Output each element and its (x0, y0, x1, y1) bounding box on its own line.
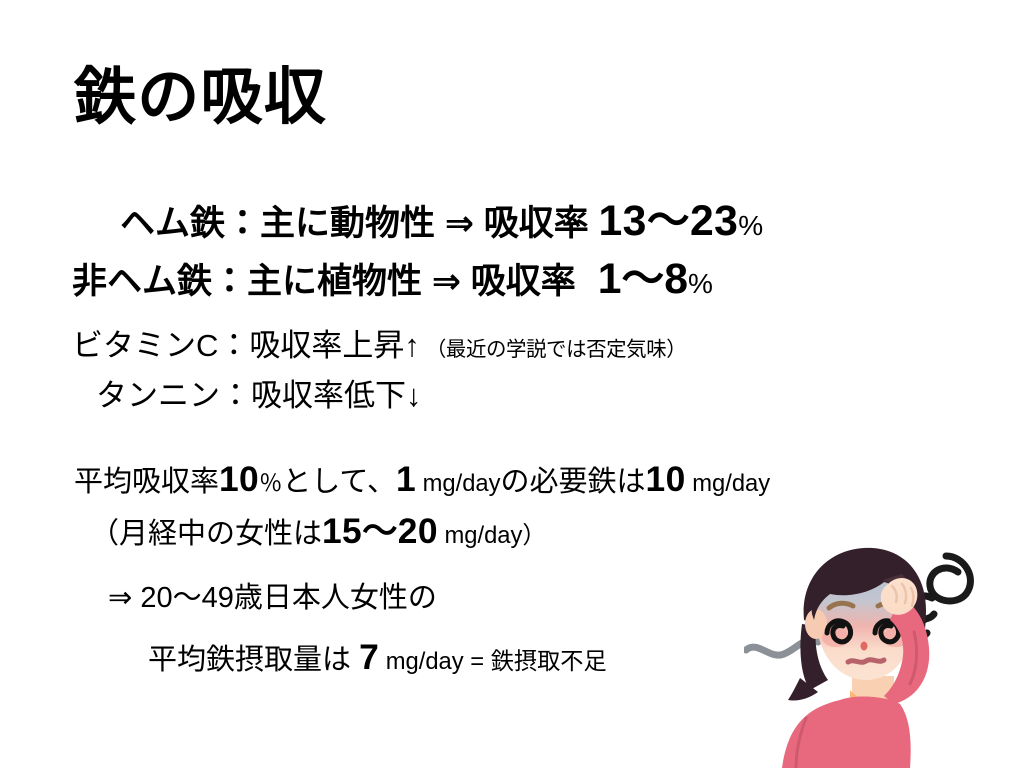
menstruation-line: （月経中の女性は15〜20 mg/day） (90, 514, 546, 549)
japanese-women-label: ⇒ 20〜49歳日本人女性の (108, 582, 437, 614)
hair-side-left (800, 624, 828, 690)
nonheme-iron-unit: % (688, 268, 713, 299)
spiral-eye-left (827, 621, 851, 642)
hand-on-forehead (881, 578, 918, 615)
intake-prefix: 平均鉄摂取量は (148, 644, 359, 676)
finger-line-1 (892, 586, 897, 602)
slide-canvas: 鉄の吸収 ヘム鉄：主に動物性 ⇒ 吸収率 13〜23% 非ヘム鉄：主に植物性 ⇒… (0, 0, 1024, 768)
nonheme-iron-label: 非ヘム鉄：主に植物性 ⇒ 吸収率 (72, 262, 576, 301)
finger-line-3 (911, 588, 913, 606)
dizzy-wave-icon (746, 640, 818, 655)
cheek-left (822, 629, 850, 647)
dizzy-swirl-icon (908, 556, 971, 637)
heme-iron-line: ヘム鉄：主に動物性 ⇒ 吸収率 13〜23% (120, 200, 763, 243)
sleeve-fold (910, 632, 917, 684)
intake-value: 7 (359, 638, 379, 677)
eyebrow-right (878, 603, 902, 608)
heme-iron-label: ヘム鉄：主に動物性 ⇒ 吸収率 (120, 204, 599, 243)
hair-tip-left (788, 678, 818, 701)
intake-conclusion: 鉄摂取不足 (491, 648, 607, 674)
hair-bangs (812, 554, 920, 620)
intake-unit: mg/day (379, 648, 464, 675)
requirement-need-value: 1 (396, 460, 416, 499)
nonheme-iron-value: 1〜8 (576, 255, 688, 303)
menstruation-unit: mg/day） (438, 522, 546, 549)
requirement-total-value: 10 (646, 460, 686, 499)
shirt-body (782, 697, 911, 768)
nonheme-iron-line: 非ヘム鉄：主に植物性 ⇒ 吸収率1〜8% (72, 258, 713, 301)
japanese-women-line-2: 平均鉄摂取量は 7 mg/day = 鉄摂取不足 (148, 640, 607, 675)
shirt-sleeve-right (884, 598, 929, 704)
hair-back (804, 548, 926, 674)
heme-iron-value: 13〜23 (599, 197, 739, 245)
requirement-prefix: 平均吸収率 (74, 466, 219, 498)
finger-line-2 (902, 584, 906, 603)
heme-iron-unit: % (738, 210, 763, 241)
requirement-mid2: の必要鉄は (501, 466, 646, 498)
hair-highlight (882, 574, 915, 614)
page-title: 鉄の吸収 (74, 62, 327, 133)
spiral-eye-right (875, 621, 899, 642)
menstruation-prefix: （月経中の女性は (90, 518, 322, 550)
requirement-need-unit: mg/day (416, 470, 501, 497)
vitamin-c-note: （最近の学説では否定気味） (420, 338, 686, 361)
neck (852, 676, 894, 704)
requirement-rate-unit: ％ (259, 470, 282, 496)
shirt-fold-left (796, 718, 806, 768)
nose (861, 642, 868, 651)
menstruation-value: 15〜20 (322, 512, 438, 551)
cheek-right (882, 629, 910, 647)
tannin-label: タンニン：吸収率低下↓ (96, 378, 422, 413)
requirement-mid: として、 (282, 466, 396, 498)
iron-requirement-line: 平均吸収率10％として、1 mg/dayの必要鉄は10 mg/day (74, 462, 770, 497)
requirement-rate-value: 10 (219, 460, 259, 499)
mouth (848, 660, 884, 663)
face (816, 560, 914, 680)
neck-shadow (850, 690, 896, 706)
tannin-line: タンニン：吸収率低下↓ (96, 380, 422, 411)
ear-left (805, 609, 827, 639)
japanese-women-line-1: ⇒ 20〜49歳日本人女性の (108, 584, 437, 613)
vitamin-c-line: ビタミンC：吸収率上昇↑（最近の学説では否定気味） (72, 330, 686, 361)
intake-equals-sign: = (464, 648, 491, 675)
eyebrow-left (829, 603, 853, 608)
vitamin-c-label: ビタミンC：吸収率上昇↑ (72, 328, 420, 363)
dizzy-woman-illustration (744, 528, 1024, 768)
requirement-total-unit: mg/day (686, 470, 771, 497)
